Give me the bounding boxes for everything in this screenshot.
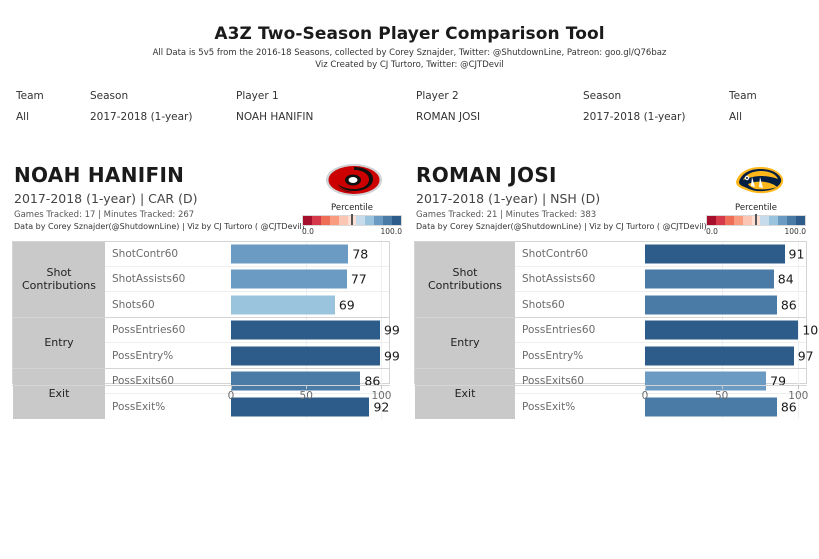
filter-value[interactable]: 2017-2018 (1-year) — [90, 111, 192, 123]
player1-x-axis: 050100 — [12, 385, 390, 407]
metric-group: EntryPossEntries6099PossEntry%99 — [13, 318, 389, 369]
legend-swatch-10 — [392, 216, 401, 225]
bar-plot-cell: 78 — [231, 242, 389, 266]
filter-value[interactable]: 2017-2018 (1-year) — [583, 111, 685, 123]
legend-swatch-8 — [778, 216, 787, 225]
page-subtitle-data-source: All Data is 5v5 from the 2016-18 Seasons… — [0, 48, 819, 58]
legend-swatch-2 — [725, 216, 734, 225]
group-header-entry: Entry — [415, 318, 515, 368]
filter-label: Season — [583, 90, 685, 102]
table-row[interactable]: ShotAssists6084 — [515, 267, 806, 292]
bar-value-label: 100 — [798, 323, 819, 338]
legend-swatch-4 — [743, 216, 752, 225]
group-rows: PossEntries60100PossEntry%97 — [515, 318, 806, 368]
legend-center-mark — [755, 214, 757, 225]
legend-title: Percentile — [302, 203, 402, 213]
axis-tick-label: 100 — [371, 390, 391, 402]
metric-label: PossEntry% — [515, 350, 645, 362]
filter-label: Team — [16, 90, 44, 102]
legend-swatch-7 — [769, 216, 778, 225]
player2-meta: 2017-2018 (1-year) | NSH (D) — [416, 191, 600, 206]
nashville-predators-logo — [728, 160, 788, 200]
filter-label: Season — [90, 90, 192, 102]
bar-value-label: 69 — [335, 297, 355, 312]
page-title: A3Z Two-Season Player Comparison Tool — [0, 24, 819, 44]
percentile-bar[interactable] — [231, 295, 335, 314]
bar-value-label: 77 — [347, 272, 367, 287]
player2-credit: Data by Corey Sznajder(@ShutdownLine) | … — [416, 222, 707, 231]
group-rows: PossEntries6099PossEntry%99 — [105, 318, 389, 368]
metric-group: Shot ContributionsShotContr6078ShotAssis… — [13, 242, 389, 318]
axis-tick — [381, 385, 382, 389]
player1-credit: Data by Corey Sznajder(@ShutdownLine) | … — [14, 222, 305, 231]
legend-swatch-2 — [321, 216, 330, 225]
bar-value-label: 91 — [785, 247, 805, 262]
table-row[interactable]: PossEntry%97 — [515, 343, 806, 368]
legend-title: Percentile — [706, 203, 806, 213]
legend-swatch-6 — [356, 216, 365, 225]
axis-line — [414, 385, 807, 386]
axis-tick — [231, 385, 232, 389]
bar-plot-cell: 84 — [645, 267, 806, 291]
metric-label: Shots60 — [105, 299, 231, 311]
metric-label: PossEntries60 — [105, 324, 231, 336]
legend-swatch-10 — [796, 216, 805, 225]
axis-tick-label: 50 — [300, 390, 313, 402]
axis-tick — [306, 385, 307, 389]
axis-line — [12, 385, 390, 386]
percentile-bar[interactable] — [645, 245, 785, 264]
axis-tick-label: 100 — [788, 390, 808, 402]
axis-tick — [722, 385, 723, 389]
table-row[interactable]: PossEntry%99 — [105, 343, 389, 368]
player2-x-axis: 050100 — [414, 385, 807, 407]
legend-swatch-9 — [787, 216, 796, 225]
carolina-hurricanes-logo — [324, 160, 384, 200]
bar-plot-cell: 86 — [645, 292, 806, 317]
group-rows: ShotContr6078ShotAssists6077Shots6069 — [105, 242, 389, 317]
bar-plot-cell: 69 — [231, 292, 389, 317]
filter-label: Player 2 — [416, 90, 480, 102]
group-rows: ShotContr6091ShotAssists6084Shots6086 — [515, 242, 806, 317]
player1-percentile-chart: Shot ContributionsShotContr6078ShotAssis… — [12, 241, 390, 384]
player1-tracked: Games Tracked: 17 | Minutes Tracked: 267 — [14, 210, 194, 220]
metric-group: Shot ContributionsShotContr6091ShotAssis… — [415, 242, 806, 318]
bar-value-label: 99 — [380, 348, 400, 363]
group-header-entry: Entry — [13, 318, 105, 368]
table-row[interactable]: Shots6086 — [515, 292, 806, 317]
percentile-bar[interactable] — [645, 321, 798, 340]
legend-swatch-1 — [716, 216, 725, 225]
legend-swatch-3 — [734, 216, 743, 225]
filter-label: Player 1 — [236, 90, 313, 102]
filter-season-1[interactable]: Season2017-2018 (1-year) — [90, 90, 192, 123]
bar-value-label: 97 — [794, 348, 814, 363]
axis-tick-label: 50 — [715, 390, 728, 402]
group-header-shot-contributions: Shot Contributions — [13, 242, 105, 317]
comparison-tool-page: A3Z Two-Season Player Comparison Tool Al… — [0, 0, 819, 559]
metric-label: ShotContr60 — [105, 248, 231, 260]
filter-season-4[interactable]: Season2017-2018 (1-year) — [583, 90, 685, 123]
percentile-bar[interactable] — [231, 321, 380, 340]
player2-name: ROMAN JOSI — [416, 163, 557, 187]
metric-label: PossEntries60 — [515, 324, 645, 336]
metric-label: ShotContr60 — [515, 248, 645, 260]
metric-label: ShotAssists60 — [105, 273, 231, 285]
percentile-bar[interactable] — [645, 270, 774, 289]
filter-team-5[interactable]: TeamAll — [729, 90, 757, 123]
percentile-bar[interactable] — [231, 346, 380, 365]
legend-swatch-9 — [383, 216, 392, 225]
legend-swatch-7 — [365, 216, 374, 225]
percentile-bar[interactable] — [231, 270, 347, 289]
filter-label: Team — [729, 90, 757, 102]
legend-swatch-6 — [760, 216, 769, 225]
legend-max-label: 100.0 — [785, 227, 806, 236]
gridline-100 — [381, 242, 382, 266]
legend-swatch-1 — [312, 216, 321, 225]
filter-bar: TeamAllSeason2017-2018 (1-year)Player 1N… — [0, 90, 819, 130]
legend-swatch-8 — [374, 216, 383, 225]
legend-center-mark — [351, 214, 353, 225]
bar-plot-cell: 91 — [645, 242, 806, 266]
table-row[interactable]: ShotContr6078 — [105, 242, 389, 267]
table-row[interactable]: PossEntries6099 — [105, 318, 389, 343]
axis-tick-label: 0 — [228, 390, 235, 402]
filter-player-2-3[interactable]: Player 2ROMAN JOSI — [416, 90, 480, 123]
table-row[interactable]: ShotAssists6077 — [105, 267, 389, 292]
filter-value[interactable]: NOAH HANIFIN — [236, 111, 313, 123]
legend-swatch-0 — [707, 216, 716, 225]
metric-label: Shots60 — [515, 299, 645, 311]
bar-value-label: 78 — [348, 247, 368, 262]
filter-value[interactable]: All — [729, 111, 757, 123]
filter-team-0[interactable]: TeamAll — [16, 90, 44, 123]
gridline-100 — [381, 267, 382, 291]
bar-plot-cell: 97 — [645, 343, 806, 368]
legend-ticks: 0.0 100.0 — [302, 227, 402, 237]
gridline-100 — [381, 292, 382, 317]
axis-tick — [798, 385, 799, 389]
bar-plot-cell: 99 — [231, 343, 389, 368]
filter-value[interactable]: ROMAN JOSI — [416, 111, 480, 123]
table-row[interactable]: ShotContr6091 — [515, 242, 806, 267]
filter-player-1-2[interactable]: Player 1NOAH HANIFIN — [236, 90, 313, 123]
bar-value-label: 86 — [777, 297, 797, 312]
axis-tick — [645, 385, 646, 389]
bar-plot-cell: 99 — [231, 318, 389, 342]
player2-percentile-chart: Shot ContributionsShotContr6091ShotAssis… — [414, 241, 807, 384]
bar-value-label: 99 — [380, 323, 400, 338]
axis-tick-label: 0 — [642, 390, 649, 402]
gridline-100 — [798, 267, 799, 291]
bar-plot-cell: 77 — [231, 267, 389, 291]
table-row[interactable]: PossEntries60100 — [515, 318, 806, 343]
percentile-bar[interactable] — [645, 295, 777, 314]
bar-value-label: 84 — [774, 272, 794, 287]
percentile-bar[interactable] — [645, 346, 794, 365]
legend-min-label: 0.0 — [302, 227, 314, 236]
metric-group: EntryPossEntries60100PossEntry%97 — [415, 318, 806, 369]
page-subtitle-credit: Viz Created by CJ Turtoro, Twitter: @CJT… — [0, 60, 819, 70]
player1-meta: 2017-2018 (1-year) | CAR (D) — [14, 191, 197, 206]
legend-swatch-3 — [330, 216, 339, 225]
player1-name: NOAH HANIFIN — [14, 163, 184, 187]
legend-max-label: 100.0 — [381, 227, 402, 236]
legend-swatch-4 — [339, 216, 348, 225]
filter-value[interactable]: All — [16, 111, 44, 123]
gridline-100 — [798, 292, 799, 317]
legend-min-label: 0.0 — [706, 227, 718, 236]
legend-swatch-0 — [303, 216, 312, 225]
legend-ticks: 0.0 100.0 — [706, 227, 806, 237]
metric-label: ShotAssists60 — [515, 273, 645, 285]
group-header-shot-contributions: Shot Contributions — [415, 242, 515, 317]
table-row[interactable]: Shots6069 — [105, 292, 389, 317]
percentile-bar[interactable] — [231, 245, 348, 264]
player2-tracked: Games Tracked: 21 | Minutes Tracked: 383 — [416, 210, 596, 220]
metric-label: PossEntry% — [105, 350, 231, 362]
percentile-legend-left: Percentile 0.0 100.0 — [302, 203, 402, 237]
percentile-legend-right: Percentile 0.0 100.0 — [706, 203, 806, 237]
bar-plot-cell: 100 — [645, 318, 806, 342]
